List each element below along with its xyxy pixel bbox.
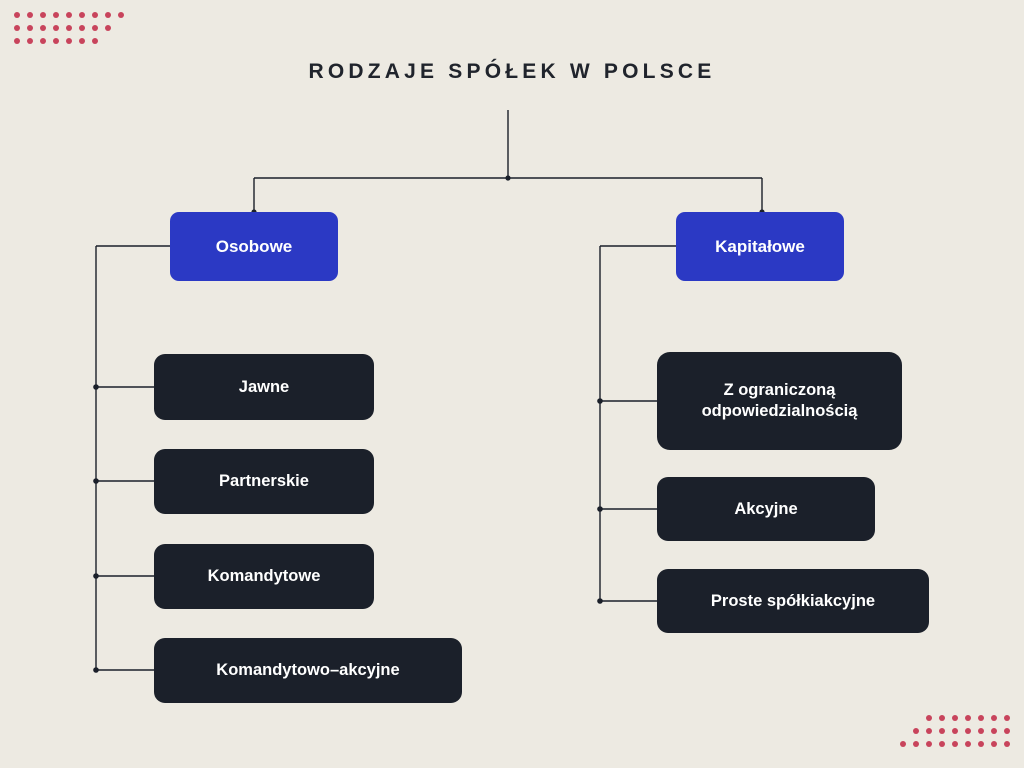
node-label: Jawne xyxy=(239,377,289,398)
node-komandytowe[interactable]: Komandytowe xyxy=(154,544,374,609)
node-label-wrapper: Z ograniczoną odpowiedzialnością xyxy=(702,380,858,421)
node-label: Proste spółkiakcyjne xyxy=(711,591,875,612)
node-z-ograniczona-odpowiedzialnoscia[interactable]: Z ograniczoną odpowiedzialnością xyxy=(657,352,902,450)
node-label: Osobowe xyxy=(216,236,293,257)
node-kapitalowe[interactable]: Kapitałowe xyxy=(676,212,844,281)
node-osobowe[interactable]: Osobowe xyxy=(170,212,338,281)
node-komandytowo-akcyjne[interactable]: Komandytowo–akcyjne xyxy=(154,638,462,703)
node-label-line1: Z ograniczoną xyxy=(724,381,836,399)
node-label: Akcyjne xyxy=(734,499,797,520)
node-proste-spolki-akcyjne[interactable]: Proste spółkiakcyjne xyxy=(657,569,929,633)
node-label: Partnerskie xyxy=(219,471,309,492)
node-partnerskie[interactable]: Partnerskie xyxy=(154,449,374,514)
diagram-canvas: RODZAJE SPÓŁEK W POLSCE xyxy=(0,0,1024,768)
node-jawne[interactable]: Jawne xyxy=(154,354,374,420)
node-label: Kapitałowe xyxy=(715,236,805,257)
node-label: Komandytowo–akcyjne xyxy=(216,660,399,681)
node-label-line2: odpowiedzialnością xyxy=(702,402,858,420)
node-akcyjne[interactable]: Akcyjne xyxy=(657,477,875,541)
node-label: Komandytowe xyxy=(208,566,321,587)
